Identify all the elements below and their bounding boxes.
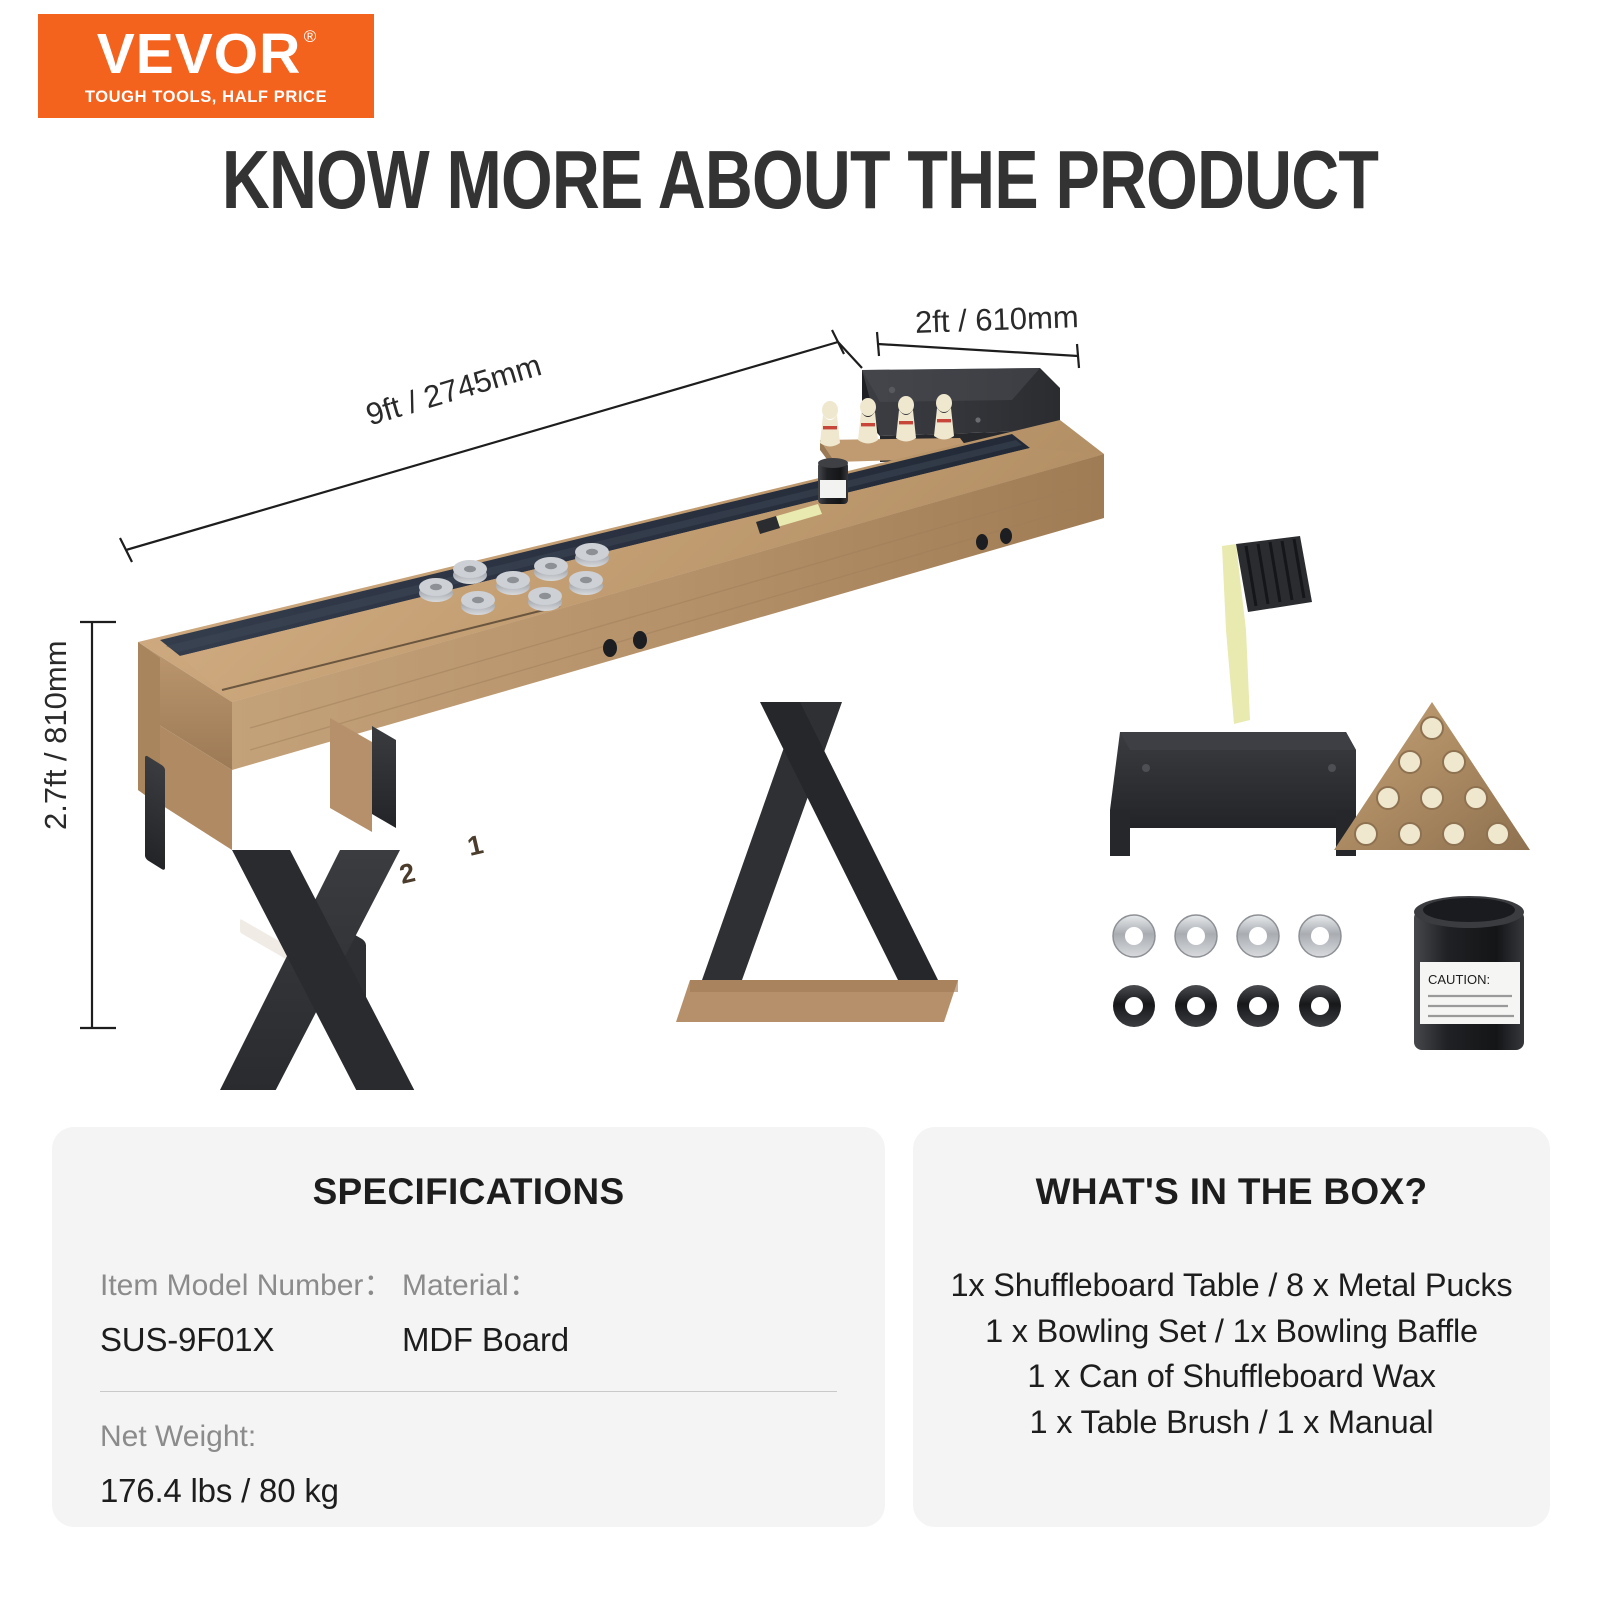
bowling-pin-triangle-rack xyxy=(1334,702,1530,850)
corner-bracket xyxy=(372,726,396,828)
cup-hole xyxy=(633,631,647,649)
cup-hole xyxy=(976,534,988,550)
spec-material-value: MDF Board xyxy=(402,1321,569,1359)
puck-silver xyxy=(1299,915,1341,957)
product-hero: 9ft / 2745mm 2ft / 610mm 2.7ft / 810mm xyxy=(0,250,1600,1090)
spec-weight-value: 176.4 lbs / 80 kg xyxy=(100,1472,885,1510)
specifications-row-1: Item Model Number： SUS-9F01X Material： M… xyxy=(100,1269,885,1359)
metal-pucks-set xyxy=(1113,915,1341,1027)
box-contents-line: 1 x Bowling Set / 1x Bowling Baffle xyxy=(913,1309,1550,1355)
puck-black xyxy=(1237,985,1279,1027)
spec-material: Material： MDF Board xyxy=(402,1269,569,1359)
table-leg-near xyxy=(134,850,500,1090)
product-illustration: 3 2 1 xyxy=(0,250,1600,1090)
wax-can-on-table xyxy=(818,458,848,504)
registered-trademark-icon: ® xyxy=(304,28,318,45)
shuffleboard-table: 3 2 1 xyxy=(134,368,1104,1090)
cup-hole xyxy=(1000,528,1012,544)
table-leg-far xyxy=(676,702,958,1022)
box-contents-line: 1 x Can of Shuffleboard Wax xyxy=(913,1354,1550,1400)
spec-material-label: Material： xyxy=(402,1269,569,1302)
spec-weight-label: Net Weight: xyxy=(100,1420,885,1453)
box-contents-line: 1x Shuffleboard Table / 8 x Metal Pucks xyxy=(913,1263,1550,1309)
specifications-panel: SPECIFICATIONS Item Model Number： SUS-9F… xyxy=(52,1127,885,1527)
puck-black xyxy=(1299,985,1341,1027)
table-brush-accessory xyxy=(1222,536,1312,724)
puck-silver xyxy=(1113,915,1155,957)
box-contents-line: 1 x Table Brush / 1 x Manual xyxy=(913,1400,1550,1446)
score-number-1: 1 xyxy=(465,829,486,862)
bowling-baffle-accessory xyxy=(1110,732,1356,856)
specifications-divider xyxy=(100,1391,837,1392)
box-contents-list: 1x Shuffleboard Table / 8 x Metal Pucks … xyxy=(913,1263,1550,1445)
whats-in-the-box-panel: WHAT'S IN THE BOX? 1x Shuffleboard Table… xyxy=(913,1127,1550,1527)
brand-tagline: TOUGH TOOLS, HALF PRICE xyxy=(85,88,327,107)
brand-name: VEVOR xyxy=(97,22,302,86)
puck-black xyxy=(1175,985,1217,1027)
whats-in-the-box-title: WHAT'S IN THE BOX? xyxy=(913,1171,1550,1213)
score-number-2: 2 xyxy=(397,857,418,890)
puck-silver xyxy=(1237,915,1279,957)
spec-model-label: Item Model Number： xyxy=(100,1269,402,1302)
specifications-title: SPECIFICATIONS xyxy=(52,1171,885,1213)
puck-silver xyxy=(1175,915,1217,957)
corner-bracket xyxy=(145,755,165,871)
page-title: KNOW MORE ABOUT THE PRODUCT xyxy=(160,138,1440,221)
puck-black xyxy=(1113,985,1155,1027)
vevor-logo: VEVOR® TOUGH TOOLS, HALF PRICE xyxy=(38,14,374,118)
spec-model: Item Model Number： SUS-9F01X xyxy=(100,1269,402,1359)
wax-can-caution-label: CAUTION: xyxy=(1428,972,1490,987)
cup-hole xyxy=(603,639,617,657)
specifications-row-2: Net Weight: 176.4 lbs / 80 kg xyxy=(100,1420,885,1510)
brand-wordmark: VEVOR® xyxy=(97,26,316,83)
shuffleboard-wax-can: CAUTION: xyxy=(1414,896,1524,1050)
spec-model-value: SUS-9F01X xyxy=(100,1321,402,1359)
